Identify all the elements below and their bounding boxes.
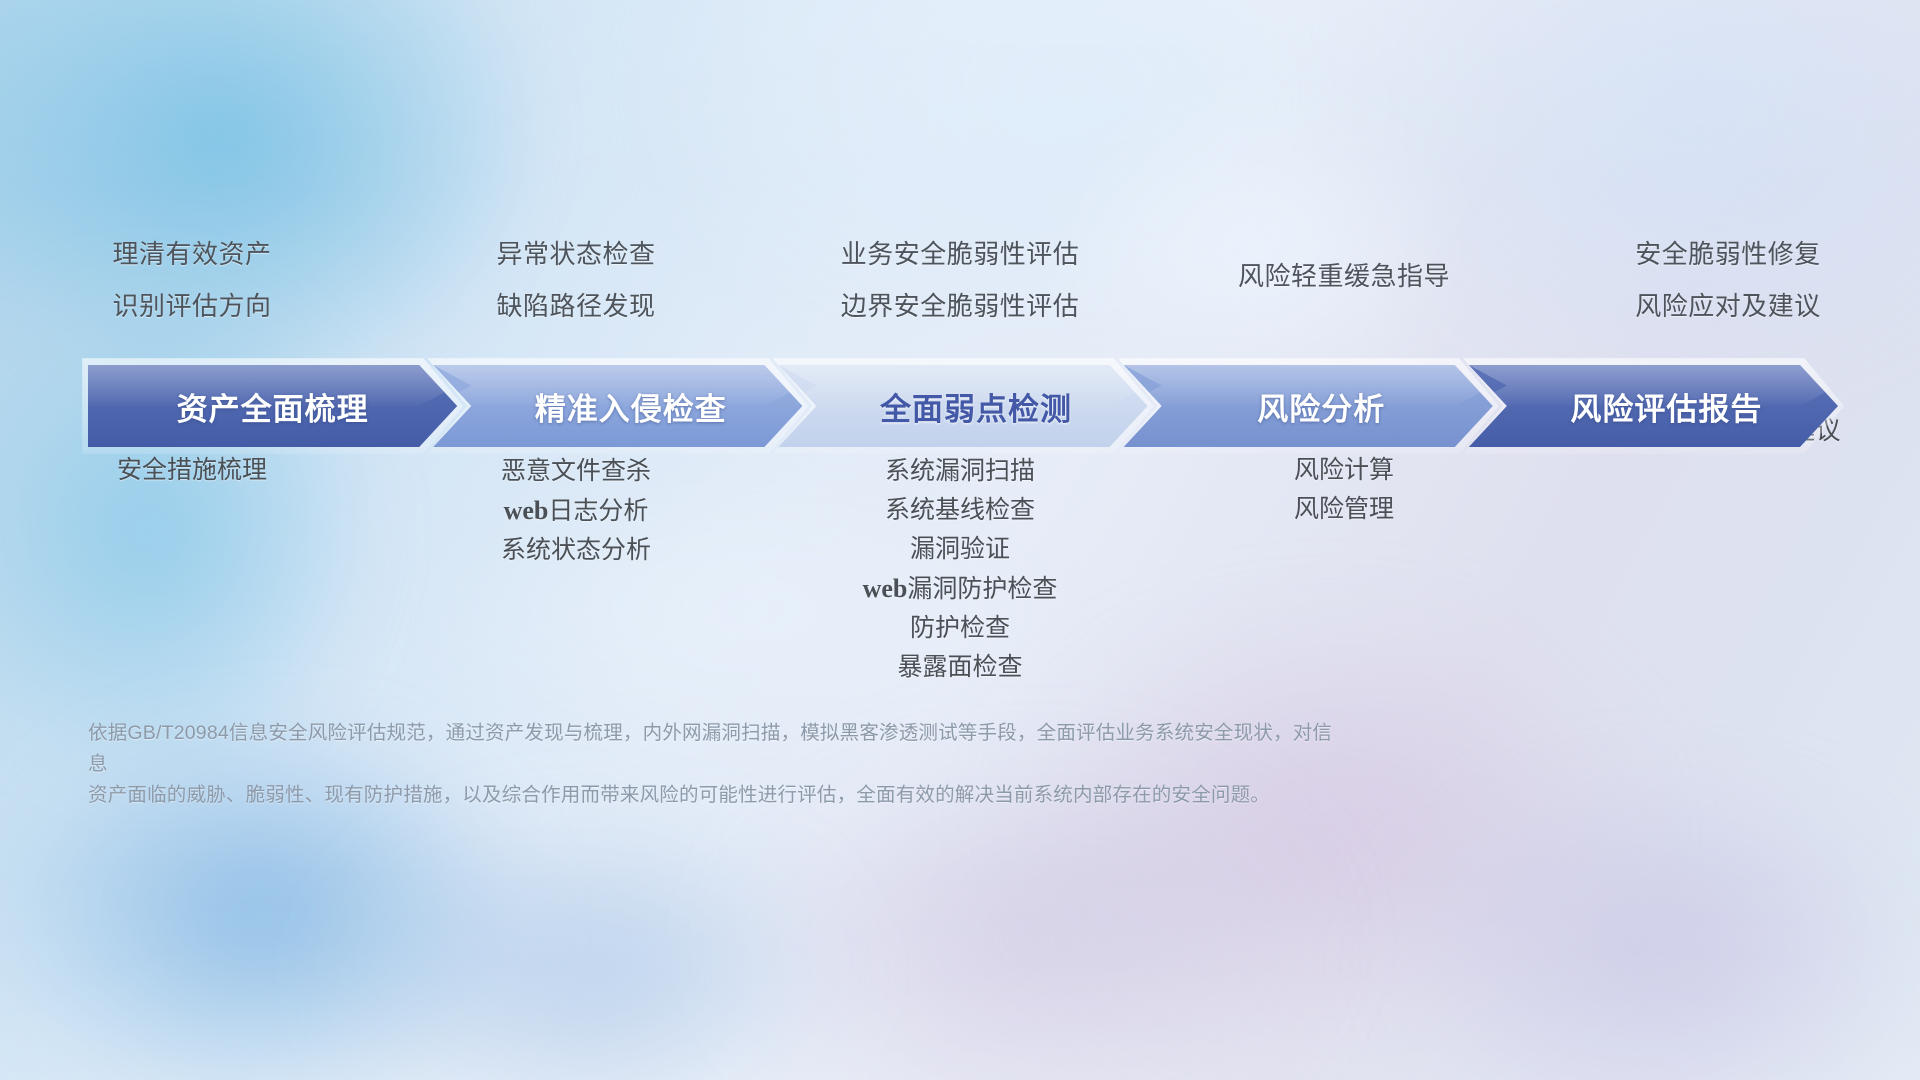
bottom-label-text: 安全措施梳理 — [117, 456, 267, 484]
bottom-label-latin: web — [863, 574, 908, 603]
bottom-label-text: 日志分析 — [548, 497, 648, 525]
bottom-label-text: 漏洞防护检查 — [907, 575, 1057, 603]
bottom-label-text: 风险计算 — [1294, 456, 1394, 484]
bottom-label: 防护检查 — [910, 609, 1010, 648]
bottom-label: 风险计算 — [1294, 451, 1394, 490]
bottom-label-text: 恶意文件查杀 — [501, 457, 651, 485]
bottom-label: 风险管理 — [1294, 490, 1394, 529]
bottom-label-text: 漏洞验证 — [910, 535, 1010, 563]
bottom-label-text: 系统状态分析 — [501, 536, 651, 564]
top-label: 理清有效资产 — [112, 228, 271, 280]
top-labels-risk-analysis: 风险轻重缓急指导 — [1152, 228, 1536, 332]
top-label: 识别评估方向 — [112, 280, 271, 332]
bottom-label-text: 系统基线检查 — [885, 496, 1035, 524]
bottom-label: 恶意文件查杀 — [501, 452, 651, 491]
bottom-label-text: 暴露面检查 — [897, 653, 1022, 681]
bottom-label-text: 风险管理 — [1294, 495, 1394, 523]
top-label-row: 理清有效资产识别评估方向异常状态检查缺陷路径发现业务安全脆弱性评估边界安全脆弱性… — [0, 228, 1920, 332]
top-label: 风险轻重缓急指导 — [1238, 250, 1450, 302]
bottom-label: 暴露面检查 — [897, 648, 1022, 687]
bottom-label: 系统基线检查 — [885, 491, 1035, 530]
top-labels-weakness-detection: 业务安全脆弱性评估边界安全脆弱性评估 — [768, 228, 1152, 332]
footer-description: 依据GB/T20984信息安全风险评估规范，通过资产发现与梳理，内外网漏洞扫描，… — [88, 718, 1338, 811]
top-label: 安全脆弱性修复 — [1635, 228, 1821, 280]
top-label: 缺陷路径发现 — [496, 280, 655, 332]
bottom-label: web漏洞防护检查 — [863, 569, 1058, 609]
bottom-label: web日志分析 — [504, 491, 649, 531]
top-label: 业务安全脆弱性评估 — [841, 228, 1080, 280]
bottom-label: 漏洞验证 — [910, 530, 1010, 569]
bottom-label: 安全措施梳理 — [117, 451, 267, 490]
top-labels-assessment-report: 安全脆弱性修复风险应对及建议 — [1536, 228, 1920, 332]
stage-title: 全面弱点检测 — [854, 384, 1072, 429]
bottom-label-text: 系统漏洞扫描 — [885, 457, 1035, 485]
stage-chevron-band: 资产全面梳理精准入侵检查全面弱点检测风险分析风险评估报告 — [88, 365, 1838, 447]
bottom-label-text: 防护检查 — [910, 614, 1010, 642]
bottom-label: 系统漏洞扫描 — [885, 452, 1035, 491]
stage-title: 风险评估报告 — [1544, 384, 1762, 429]
process-diagram: 理清有效资产识别评估方向异常状态检查缺陷路径发现业务安全脆弱性评估边界安全脆弱性… — [0, 0, 1920, 1080]
stage-chevron-weakness-detection[interactable]: 全面弱点检测 — [778, 365, 1147, 447]
footer-line-1: 依据GB/T20984信息安全风险评估规范，通过资产发现与梳理，内外网漏洞扫描，… — [88, 718, 1338, 780]
top-labels-asset-inventory: 理清有效资产识别评估方向 — [0, 228, 384, 332]
top-labels-intrusion-check: 异常状态检查缺陷路径发现 — [384, 228, 768, 332]
bottom-label-latin: web — [504, 496, 549, 525]
top-label: 风险应对及建议 — [1635, 280, 1821, 332]
stage-chevron-risk-analysis[interactable]: 风险分析 — [1124, 365, 1493, 447]
stage-chevron-asset-inventory[interactable]: 资产全面梳理 — [88, 365, 457, 447]
footer-line-2: 资产面临的威胁、脆弱性、现有防护措施，以及综合作用而带来风险的可能性进行评估，全… — [88, 780, 1338, 811]
stage-chevron-intrusion-check[interactable]: 精准入侵检查 — [433, 365, 802, 447]
bottom-label: 系统状态分析 — [501, 531, 651, 570]
stage-title: 精准入侵检查 — [509, 384, 727, 429]
stage-title: 风险分析 — [1231, 384, 1385, 429]
top-label: 异常状态检查 — [496, 228, 655, 280]
stage-chevron-assessment-report[interactable]: 风险评估报告 — [1469, 365, 1838, 447]
top-label: 边界安全脆弱性评估 — [841, 280, 1080, 332]
stage-title: 资产全面梳理 — [177, 384, 369, 429]
